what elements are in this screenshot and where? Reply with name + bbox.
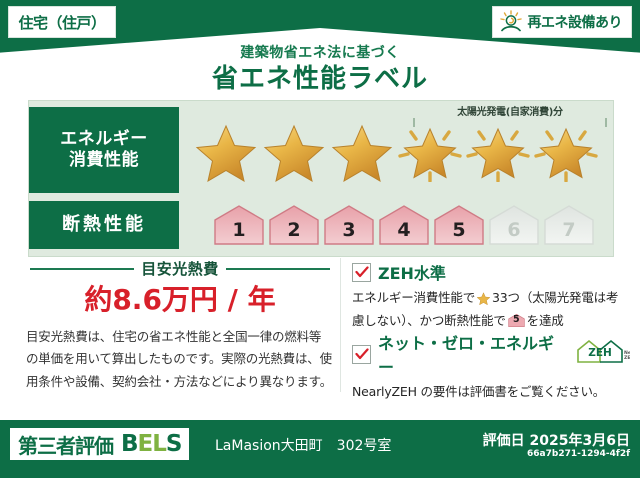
zeh-standard-body-part3: を達成 (527, 313, 564, 328)
net-zero-title: ネット・ゼロ・エネルギー (378, 330, 565, 378)
insulation-step-7: 7 (543, 204, 595, 246)
column-divider (340, 258, 341, 392)
insulation-performance-row: 断熱性能 1 (29, 201, 613, 249)
energy-performance-label: エネルギー 消費性能 (29, 107, 179, 193)
insulation-step-5: 5 (433, 204, 485, 246)
inline-star-icon (476, 291, 491, 311)
zeh-standard-header: ZEH水準 (352, 260, 630, 284)
net-zero-body: NearlyZEH の要件は評価書をご覧ください。 (352, 382, 630, 402)
insulation-step-label: 4 (397, 219, 410, 246)
bels-letter-el: EL (138, 431, 166, 457)
net-zero-energy-block: ネット・ゼロ・エネルギー ZEH Nearly ZEH NearlyZEH の要… (352, 330, 630, 402)
property-name: LaMasion大田町 302号室 (215, 435, 391, 455)
energy-label-line1: エネルギー (60, 129, 148, 150)
insulation-step-label: 3 (342, 219, 355, 246)
star-solar-icon (465, 118, 531, 182)
star-rating (179, 118, 599, 182)
house-type-badge-label: 住宅（住戸） (18, 12, 105, 33)
zeh-standard-body: エネルギー消費性能で33つ（太陽光発電は考慮しない）、かつ断熱性能で5を達成 (352, 288, 630, 332)
bels-wordmark: BELS (121, 431, 181, 457)
zeh-standard-body-part1: エネルギー消費性能で (352, 290, 475, 305)
insulation-step-label: 7 (562, 219, 575, 246)
insulation-step-4: 4 (378, 204, 430, 246)
insulation-scale: 1 2 3 (179, 204, 595, 246)
zeh-standard-star-count: 3 (492, 290, 500, 305)
zeh-standard-title: ZEH水準 (378, 260, 446, 284)
insulation-step-label: 5 (452, 219, 465, 246)
house-type-badge: 住宅（住戸） (8, 6, 116, 38)
checkbox-checked-icon (352, 345, 371, 364)
energy-performance-value: 太陽光発電(自家消費)分 (179, 107, 613, 193)
evaluation-date: 評価日 2025年3月6日 (483, 430, 630, 450)
sun-icon (498, 10, 524, 34)
inline-insulation-badge-label: 5 (508, 313, 525, 328)
energy-performance-row: エネルギー 消費性能 太陽光発電(自家消費)分 (29, 107, 613, 193)
star-icon (329, 118, 395, 182)
svg-text:ZEH: ZEH (624, 355, 630, 361)
bels-logo: 第三者評価 BELS (10, 428, 189, 460)
insulation-step-label: 1 (232, 219, 245, 246)
svg-text:ZEH: ZEH (588, 347, 612, 359)
insulation-label-text: 断熱性能 (62, 214, 146, 237)
star-solar-icon (533, 118, 599, 182)
heading-rule-right (226, 268, 330, 270)
insulation-step-2: 2 (268, 204, 320, 246)
insulation-step-label: 2 (287, 219, 300, 246)
heading-rule-left (30, 268, 134, 270)
utility-cost-heading: 目安光熱費 (30, 258, 330, 279)
zeh-standard-block: ZEH水準 エネルギー消費性能で33つ（太陽光発電は考慮しない）、かつ断熱性能で… (352, 260, 630, 332)
utility-cost-heading-label: 目安光熱費 (141, 258, 219, 279)
energy-label-line2: 消費性能 (69, 150, 139, 171)
bels-letter-s: S (166, 431, 182, 457)
checkbox-checked-icon (352, 263, 371, 282)
zeh-logo-icon: ZEH Nearly ZEH (576, 339, 630, 369)
inline-insulation-badge: 5 (508, 313, 525, 328)
star-icon (193, 118, 259, 182)
star-icon (261, 118, 327, 182)
insulation-step-label: 6 (507, 219, 520, 246)
renewable-badge-label: 再エネ設備あり (528, 12, 623, 32)
insulation-performance-value: 1 2 3 (179, 201, 613, 249)
solar-portion-caption: 太陽光発電(自家消費)分 (407, 103, 613, 118)
star-solar-icon (397, 118, 463, 182)
insulation-step-6: 6 (488, 204, 540, 246)
utility-cost-value: 約8.6万円 / 年 (30, 278, 330, 318)
third-party-eval-label: 第三者評価 (18, 430, 113, 459)
bels-letter-b: B (121, 431, 138, 457)
energy-label-root: 住宅（住戸） 再エネ設備あり 建築物省エネ法に基づく 省エネ性能ラベル (0, 0, 640, 478)
net-zero-header: ネット・ゼロ・エネルギー ZEH Nearly ZEH (352, 330, 630, 378)
utility-cost-note: 目安光熱費は、住宅の省エネ性能と全国一律の燃料等の単価を用いて算出したものです。… (26, 326, 332, 393)
insulation-step-3: 3 (323, 204, 375, 246)
performance-panel: エネルギー 消費性能 太陽光発電(自家消費)分 (28, 100, 614, 257)
renewable-equipment-badge: 再エネ設備あり (492, 6, 633, 38)
insulation-step-1: 1 (213, 204, 265, 246)
insulation-performance-label: 断熱性能 (29, 201, 179, 249)
evaluation-id: 66a7b271-1294-4f2f (527, 449, 630, 459)
label-title: 省エネ性能ラベル (0, 58, 640, 95)
